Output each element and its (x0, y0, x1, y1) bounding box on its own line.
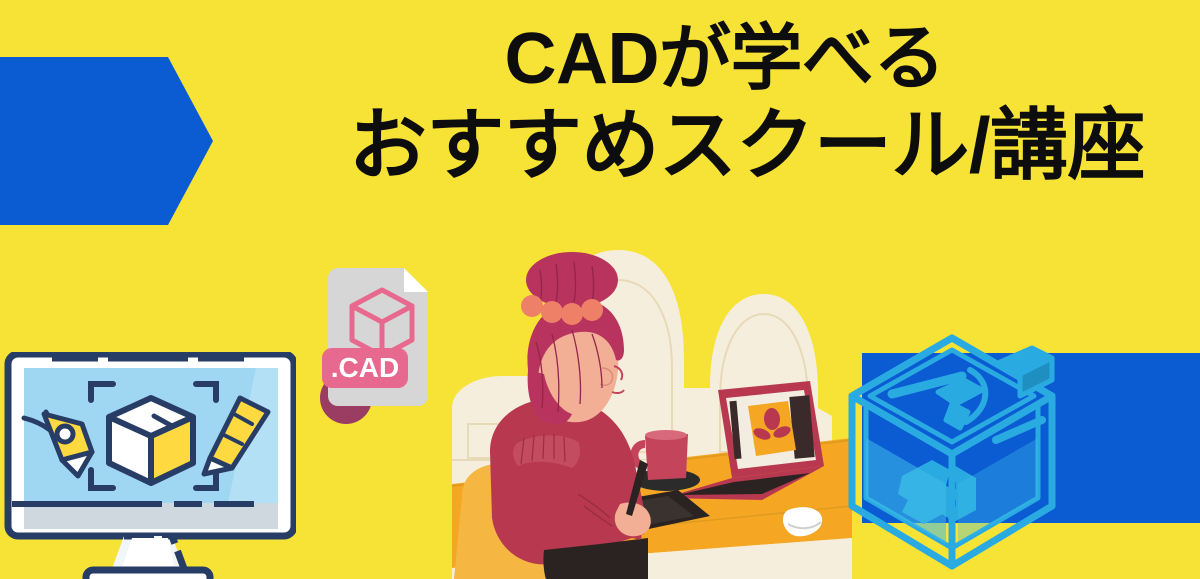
folded-corner (404, 268, 428, 292)
cad-badge-label: .CAD (331, 352, 399, 383)
printer-glass-panel-right (958, 438, 1038, 544)
mug-rim (645, 430, 687, 440)
headline-line-1: CADが学べる (0, 22, 1185, 97)
headline-line-2: おすすめスクール/講座 (0, 105, 1185, 186)
3d-cube-icon (109, 398, 193, 483)
cad-file-icon: .CAD (316, 256, 456, 426)
cad-monitor-illustration (0, 352, 296, 579)
poster-canvas: CADが学べる おすすめスクール/講座 (0, 0, 1200, 579)
page-title: CADが学べる おすすめスクール/講座 (0, 22, 1185, 186)
coffee-mug (645, 434, 688, 480)
stand-base (86, 570, 210, 579)
printer-glass-panel (866, 438, 946, 544)
designer-at-desk-illustration (432, 238, 852, 579)
3d-printer-illustration (846, 330, 1066, 579)
